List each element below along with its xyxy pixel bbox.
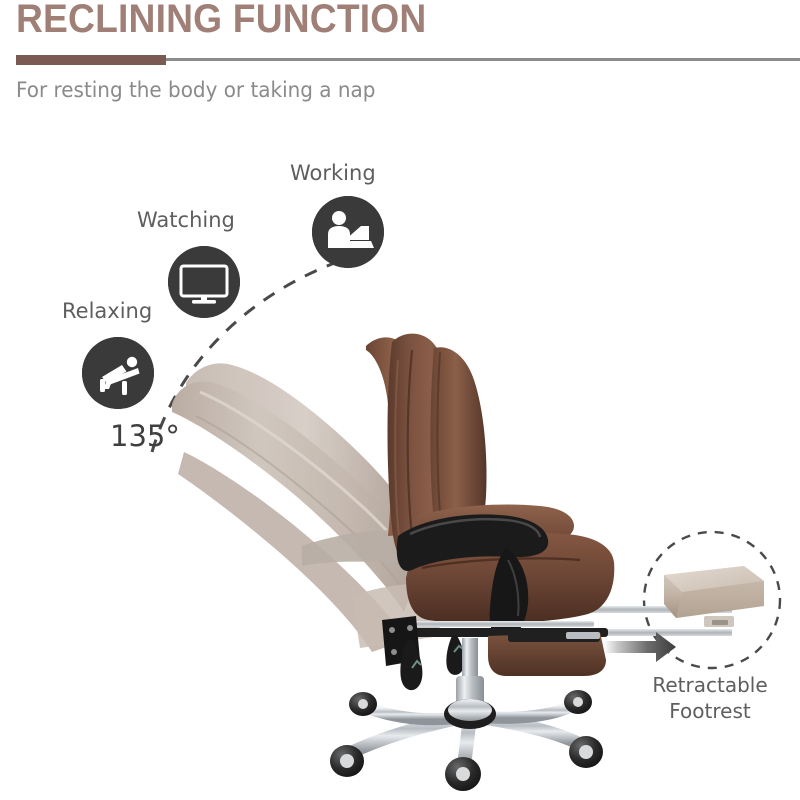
person-reclining-lounge-icon (82, 337, 154, 409)
caster-wheel (349, 692, 377, 716)
recline-angle-label: 135° (110, 419, 180, 453)
seat-mechanism-rail (398, 621, 594, 627)
mode-label-relaxing: Relaxing (62, 299, 152, 323)
caster-wheel (445, 757, 481, 791)
caster-wheel (569, 736, 603, 768)
person-at-laptop-icon (312, 196, 384, 268)
caster-wheel (564, 690, 592, 714)
footrest-callout (592, 532, 780, 668)
footrest-caption: Retractable Footrest (620, 672, 800, 724)
mode-label-working: Working (290, 161, 376, 185)
television-icon (168, 246, 240, 318)
caster-wheel (330, 745, 364, 777)
footrest-cushion-extended (664, 566, 764, 627)
adjustment-levers (400, 634, 464, 690)
footrest-retracted (488, 630, 606, 676)
chair-base (330, 690, 603, 791)
mode-label-watching: Watching (137, 208, 235, 232)
footrest-direction-arrow (604, 632, 676, 662)
footrest-caption-line-2: Footrest (620, 698, 800, 724)
footrest-caption-line-1: Retractable (620, 672, 800, 698)
